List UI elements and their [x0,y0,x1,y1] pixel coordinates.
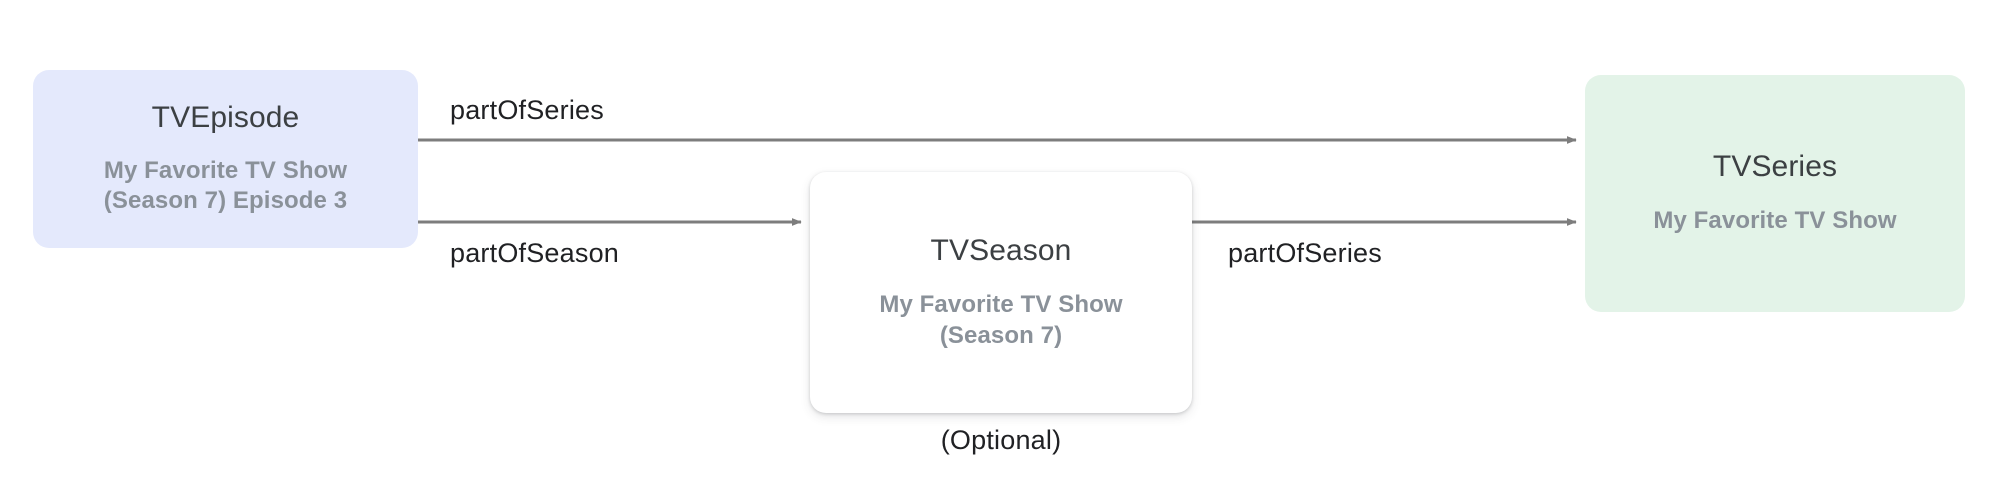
node-tvepisode-title: TVEpisode [152,101,300,136]
node-tvseries-subtitle: My Favorite TV Show [1653,206,1896,237]
node-tvepisode[interactable]: TVEpisode My Favorite TV Show (Season 7)… [33,70,418,248]
node-tvepisode-subtitle: My Favorite TV Show (Season 7) Episode 3 [104,156,347,217]
node-tvseason-title: TVSeason [931,234,1072,269]
edge-label-season-to-series: partOfSeries [1228,238,1382,269]
node-tvseries-title: TVSeries [1713,150,1837,185]
optional-note-label: (Optional) [810,425,1192,456]
node-tvseason[interactable]: TVSeason My Favorite TV Show (Season 7) [810,172,1192,413]
diagram-canvas: TVEpisode My Favorite TV Show (Season 7)… [0,0,2000,495]
node-tvseason-subtitle: My Favorite TV Show (Season 7) [879,290,1122,351]
edge-label-episode-to-season: partOfSeason [450,238,619,269]
edge-label-episode-to-series: partOfSeries [450,95,604,126]
node-tvseries[interactable]: TVSeries My Favorite TV Show [1585,75,1965,312]
